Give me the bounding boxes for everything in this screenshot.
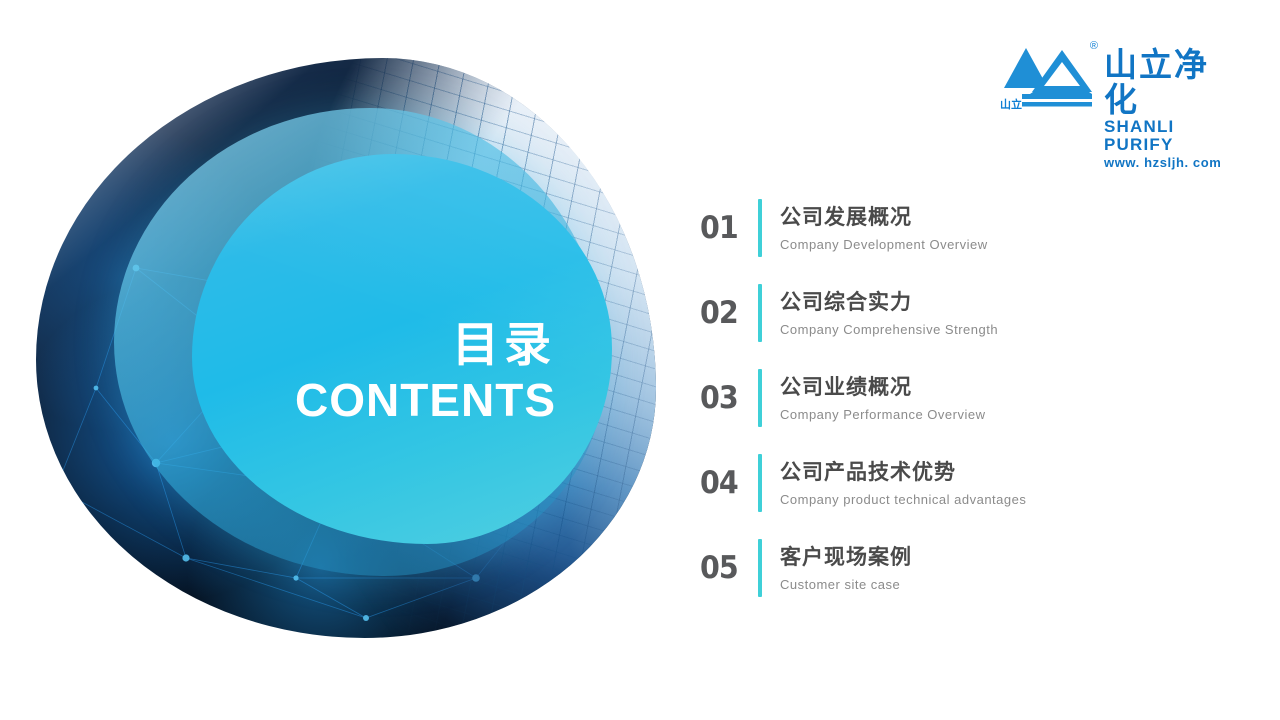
contents-artwork: 目录 CONTENTS — [36, 58, 656, 638]
contents-heading: 目录 CONTENTS — [226, 320, 556, 426]
logo-mark-sub-label: 山立 — [1000, 100, 1022, 111]
registered-trademark-icon: ® — [1090, 40, 1098, 52]
item-number: 05 — [700, 550, 753, 586]
logo-wordmark: 山立净化 SHANLI PURIFY www. hzsljh. com — [1104, 40, 1230, 170]
contents-heading-cn: 目录 — [226, 320, 556, 373]
item-number: 02 — [700, 295, 753, 331]
logo-company-en: SHANLI PURIFY — [1104, 118, 1230, 154]
item-number: 03 — [700, 380, 753, 416]
shanli-mountain-icon: ® 山立 — [1000, 40, 1100, 112]
item-title-en: Company product technical advantages — [780, 492, 1220, 508]
contents-list: 01 公司发展概况 Company Development Overview 0… — [700, 196, 1220, 621]
slide-canvas: 目录 CONTENTS ® 山立 山立净化 SHANLI PURIFY www.… — [0, 0, 1280, 720]
item-title-cn: 公司发展概况 — [780, 203, 1220, 231]
item-labels: 公司发展概况 Company Development Overview — [780, 203, 1220, 253]
item-accent-bar — [758, 199, 762, 257]
contents-item-02[interactable]: 02 公司综合实力 Company Comprehensive Strength — [700, 281, 1220, 345]
item-number: 04 — [700, 465, 753, 501]
item-title-en: Company Comprehensive Strength — [780, 322, 1220, 338]
logo-website-url[interactable]: www. hzsljh. com — [1104, 156, 1230, 170]
item-accent-bar — [758, 454, 762, 512]
contents-item-01[interactable]: 01 公司发展概况 Company Development Overview — [700, 196, 1220, 260]
item-title-cn: 公司综合实力 — [780, 288, 1220, 316]
logo-company-cn: 山立净化 — [1104, 48, 1230, 117]
item-number: 01 — [700, 210, 753, 246]
contents-item-03[interactable]: 03 公司业绩概况 Company Performance Overview — [700, 366, 1220, 430]
item-accent-bar — [758, 539, 762, 597]
company-logo[interactable]: ® 山立 山立净化 SHANLI PURIFY www. hzsljh. com — [1000, 40, 1230, 120]
contents-item-05[interactable]: 05 客户现场案例 Customer site case — [700, 536, 1220, 600]
contents-item-04[interactable]: 04 公司产品技术优势 Company product technical ad… — [700, 451, 1220, 515]
item-labels: 公司综合实力 Company Comprehensive Strength — [780, 288, 1220, 338]
item-labels: 客户现场案例 Customer site case — [780, 543, 1220, 593]
item-title-en: Customer site case — [780, 577, 1220, 593]
item-title-cn: 客户现场案例 — [780, 543, 1220, 571]
contents-heading-en: CONTENTS — [226, 375, 556, 427]
item-title-cn: 公司产品技术优势 — [780, 458, 1220, 486]
item-title-en: Company Development Overview — [780, 237, 1220, 253]
item-accent-bar — [758, 369, 762, 427]
item-labels: 公司产品技术优势 Company product technical advan… — [780, 458, 1220, 508]
item-title-cn: 公司业绩概况 — [780, 373, 1220, 401]
item-accent-bar — [758, 284, 762, 342]
item-labels: 公司业绩概况 Company Performance Overview — [780, 373, 1220, 423]
item-title-en: Company Performance Overview — [780, 407, 1220, 423]
